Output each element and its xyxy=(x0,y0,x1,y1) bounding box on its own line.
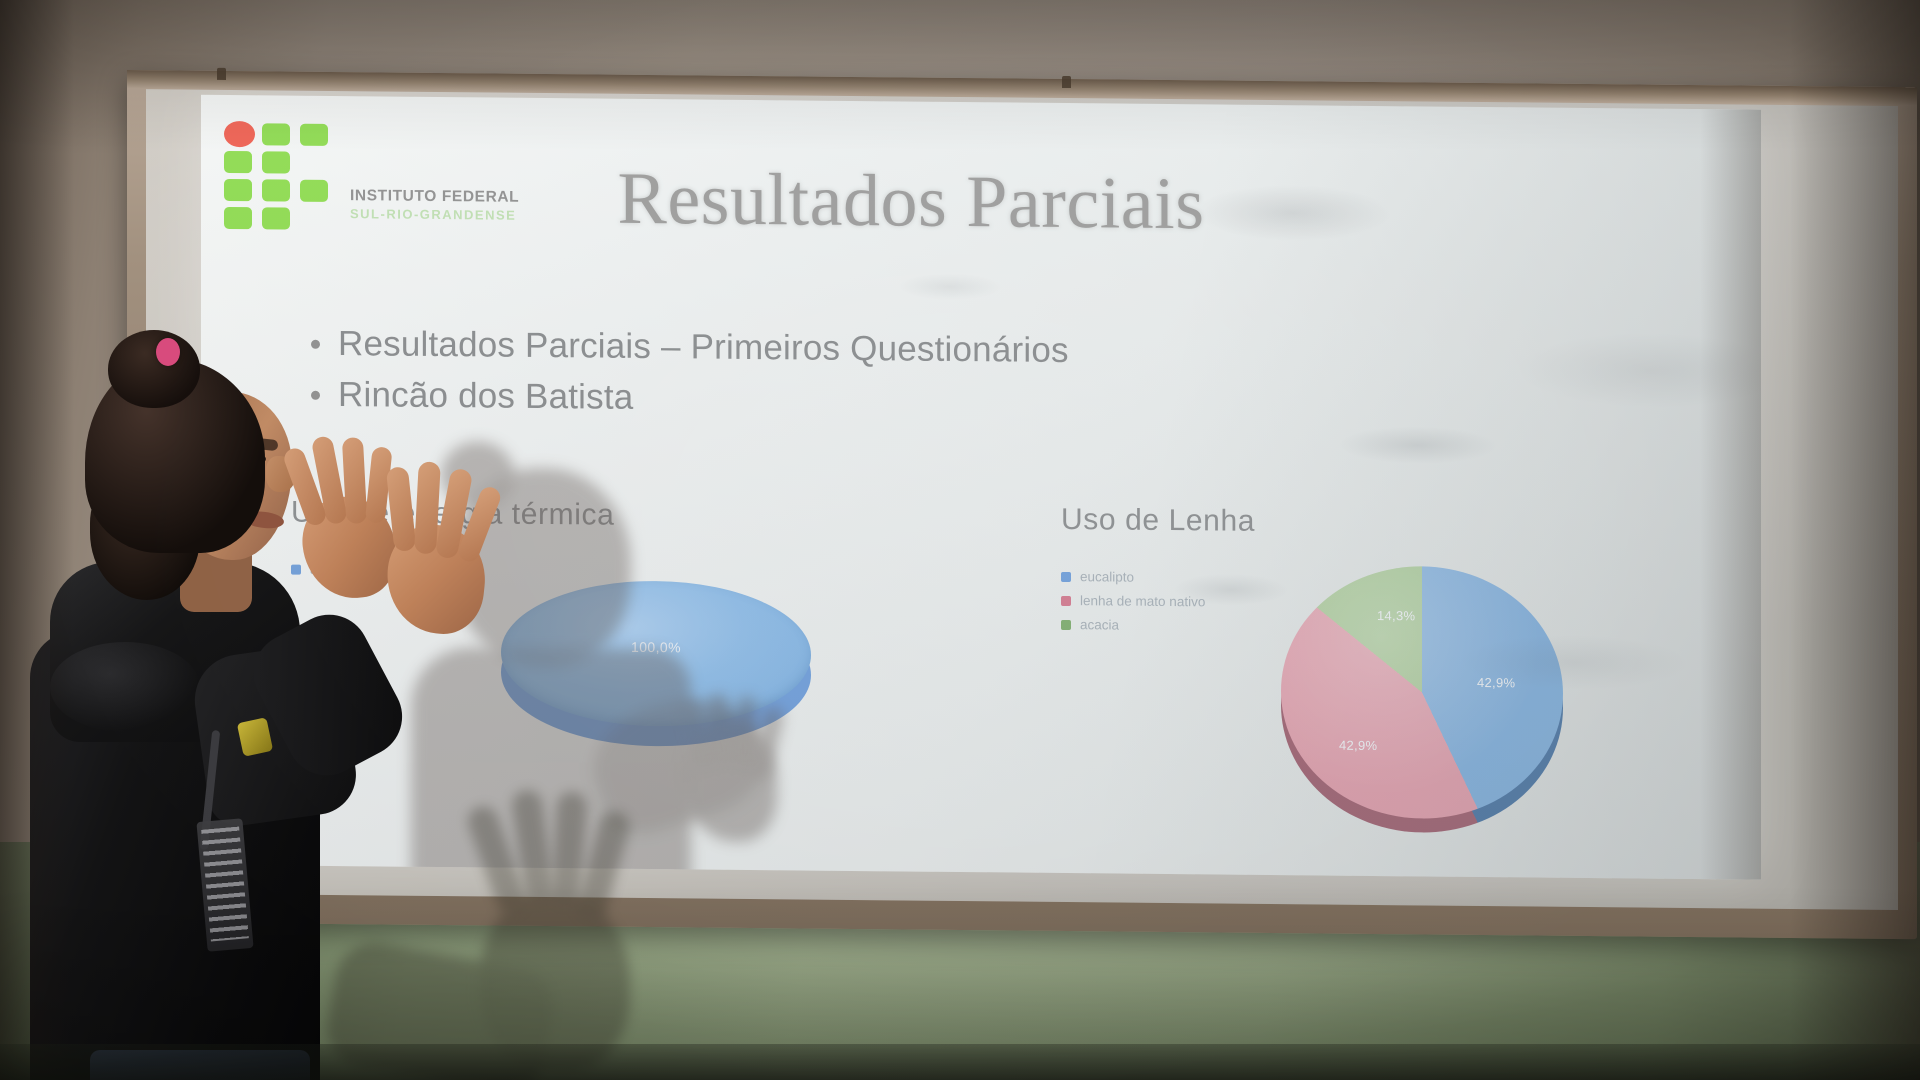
legend-swatch-icon xyxy=(1061,571,1071,581)
board-hook xyxy=(217,68,226,80)
pie-slice-label-mato-nativo: 42,9% xyxy=(1339,738,1377,753)
legend-label: acacia xyxy=(1080,617,1119,632)
floor-strip xyxy=(0,1044,1920,1080)
presenter-hand-right xyxy=(373,460,518,642)
logo-cell xyxy=(262,123,290,145)
legend-swatch-icon xyxy=(1061,595,1071,605)
classroom-scene: INSTITUTO FEDERAL SUL-RIO-GRANDENSE Resu… xyxy=(0,0,1920,1080)
chart-title: Uso de Lenha xyxy=(1061,503,1661,543)
hand-finger xyxy=(386,466,417,552)
scene-edge-right xyxy=(1790,0,1920,1080)
pie-chart-lenha: 42,9% 42,9% 14,3% xyxy=(1281,565,1563,838)
chart-uso-de-lenha: Uso de Lenha eucalipto lenha de mato nat… xyxy=(1061,503,1661,839)
presenter-hair-tie xyxy=(156,338,180,366)
logo-dot-red xyxy=(224,121,255,147)
presenter xyxy=(30,330,590,1080)
scene-edge-left xyxy=(0,0,74,1080)
hand-finger xyxy=(342,437,367,524)
legend-swatch-icon xyxy=(1061,619,1071,629)
slide-title: Resultados Parciais xyxy=(201,153,1621,252)
presenter-hair-bun xyxy=(108,330,200,408)
projection-right-edge xyxy=(1700,109,1761,880)
pie-slice-label-eucalipto: 42,9% xyxy=(1477,675,1515,690)
board-hook xyxy=(1062,76,1071,88)
legend-label: eucalipto xyxy=(1080,569,1134,585)
pie-sheen xyxy=(1281,565,1563,820)
pie-slice-label-acacia: 14,3% xyxy=(1377,608,1415,623)
logo-cell xyxy=(300,124,328,146)
legend-label: lenha de mato nativo xyxy=(1080,593,1205,609)
